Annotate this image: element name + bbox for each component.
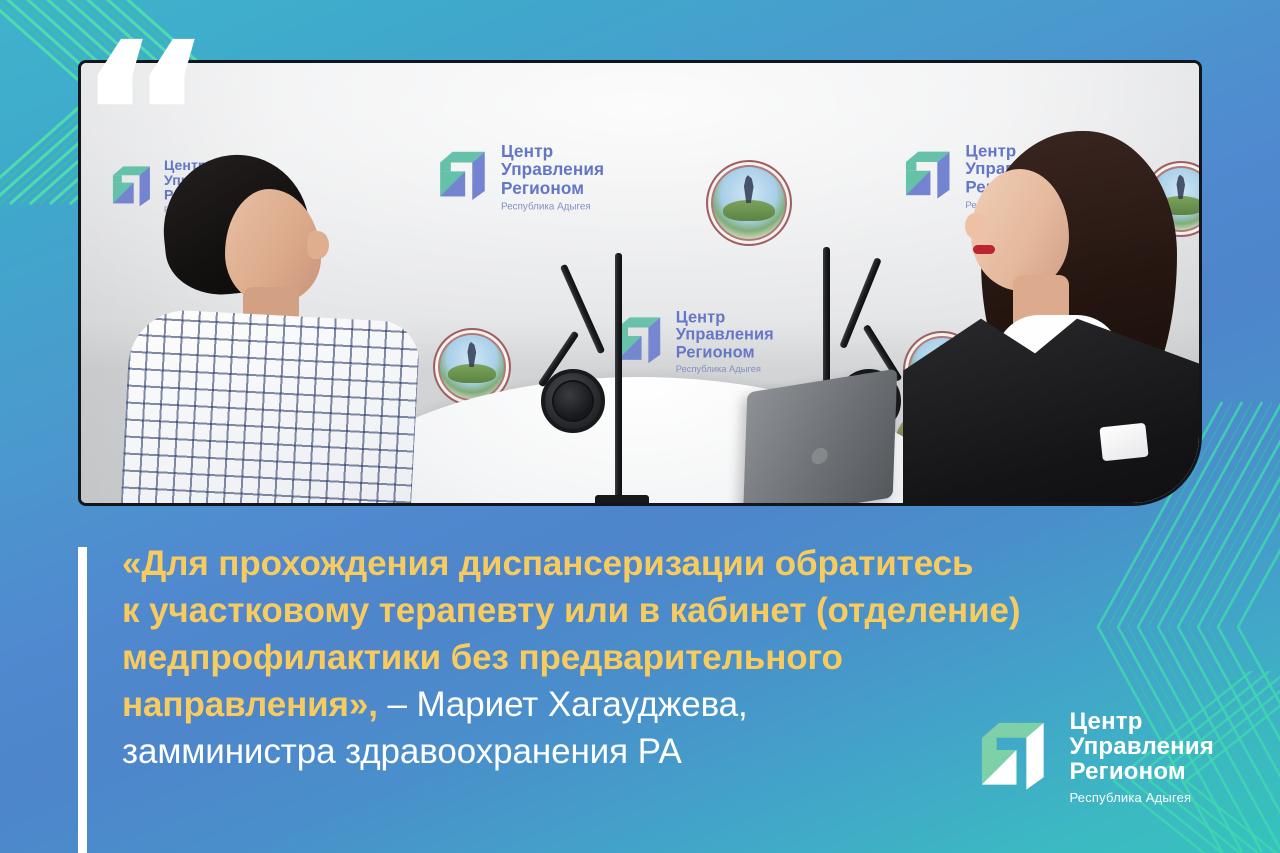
- bd2-line3: Регионом: [501, 179, 604, 197]
- quote-line-2-text: к участковому терапевту или в кабинет (о…: [122, 591, 1020, 630]
- quote-line-4-highlight: направления»,: [122, 685, 378, 724]
- quote-line-1: «Для прохождения диспансеризации обратит…: [122, 540, 1132, 587]
- cur-logo-text: Центр Управления Регионом Республика Ады…: [501, 143, 604, 211]
- brand-logo: Центр Управления Регионом Республика Ады…: [972, 710, 1215, 805]
- bd3-line3: Регионом: [676, 344, 774, 361]
- quote-line-3: медпрофилактики без предварительного: [122, 634, 1132, 681]
- accent-bar: [78, 547, 87, 853]
- studio-microphone-left: [533, 249, 663, 503]
- brand-line-2: Управления: [1070, 735, 1215, 760]
- photo-scene: Центр Управления Регионом Республика Ады…: [81, 63, 1199, 503]
- quote-speaker-name: – Мариет Хагауджева,: [378, 685, 748, 724]
- brand-region: Республика Адыгея: [1070, 791, 1215, 805]
- bd3-line1: Центр: [676, 309, 774, 326]
- bd2-region: Республика Адыгея: [501, 201, 604, 211]
- bd2-line1: Центр: [501, 143, 604, 161]
- quote-speaker-title: замминистра здравоохранения РА: [122, 732, 682, 771]
- brand-line-3: Регионом: [1070, 760, 1215, 785]
- bd3-region: Республика Адыгея: [676, 364, 774, 374]
- cur-logo-text: Центр Управления Регионом Республика Ады…: [676, 309, 774, 374]
- quote-line-3-text: медпрофилактики без предварительного: [122, 638, 843, 677]
- quote-line-2: к участковому терапевту или в кабинет (о…: [122, 587, 1132, 634]
- brand-line-1: Центр: [1070, 710, 1215, 735]
- cur-logo-mark: [433, 145, 494, 210]
- cur-logo-mark-icon: [972, 713, 1056, 802]
- opening-quote-mark: “: [76, 44, 216, 195]
- bd3-line2: Управления: [676, 326, 774, 343]
- laptop: [743, 369, 897, 503]
- person-right-host: [937, 125, 1199, 503]
- bd2-line2: Управления: [501, 161, 604, 179]
- brand-logo-text: Центр Управления Регионом Республика Ады…: [1070, 710, 1215, 805]
- adygea-coat-of-arms-icon: [706, 160, 792, 246]
- quote-poster: “ Центр Управления Рег: [0, 0, 1280, 853]
- interview-photo: Центр Управления Регионом Республика Ады…: [78, 60, 1202, 506]
- quote-line-1-text: «Для прохождения диспансеризации обратит…: [122, 544, 973, 583]
- backdrop-logo-2: Центр Управления Регионом Республика Ады…: [433, 143, 604, 211]
